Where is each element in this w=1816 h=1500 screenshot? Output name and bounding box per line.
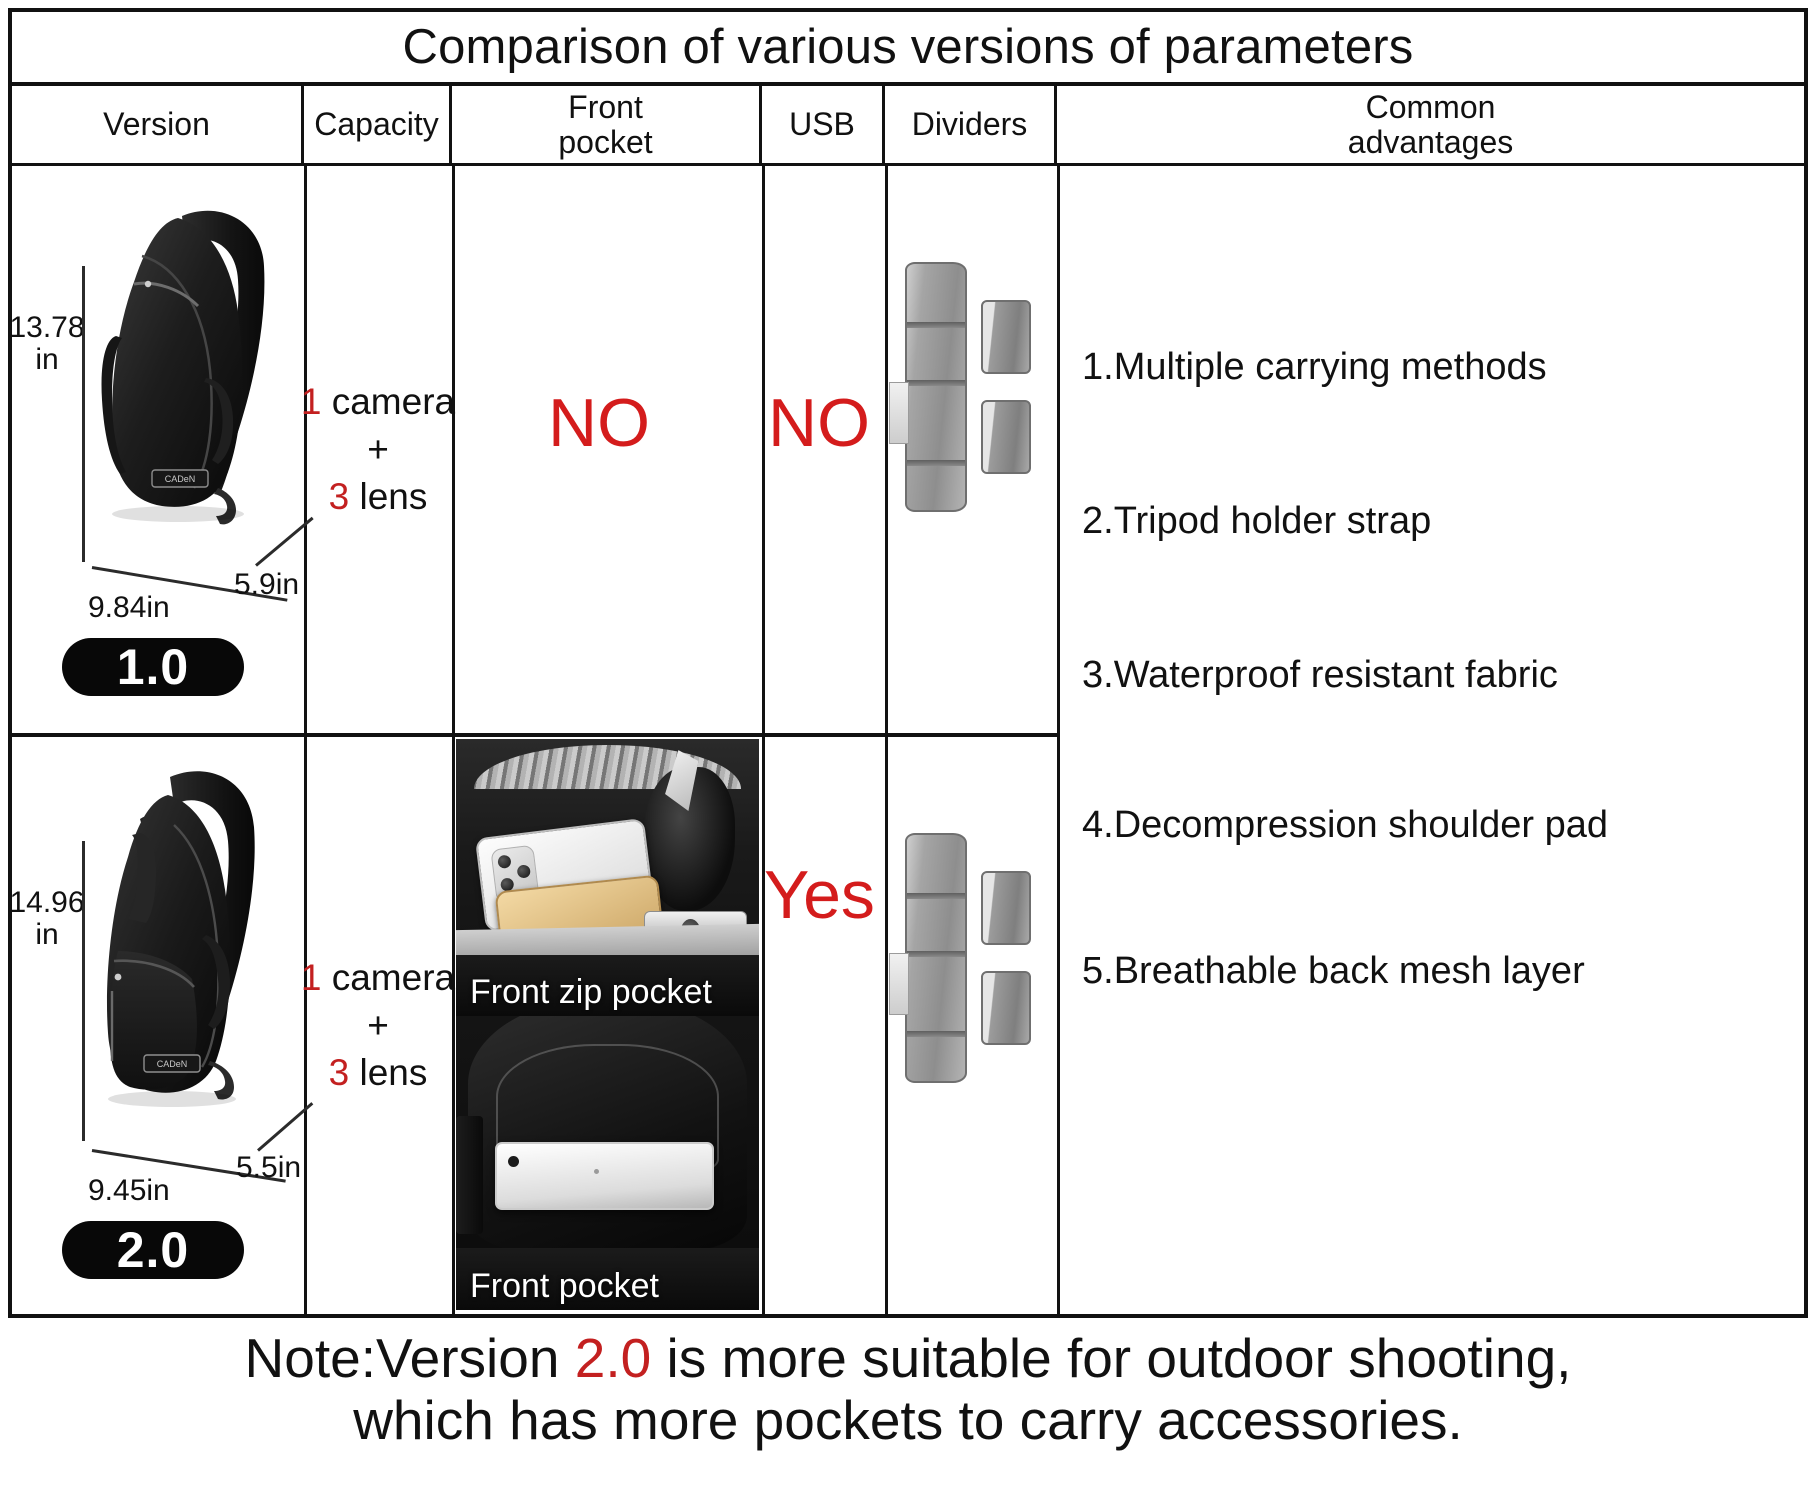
dimension-height-1: 13.78 in	[4, 312, 90, 375]
advantage-item-5: 5.Breathable back mesh layer	[1082, 952, 1585, 990]
cell-usb-2: Yes	[764, 856, 875, 934]
note-block: Note:Version 2.0 is more suitable for ou…	[8, 1322, 1808, 1492]
capacity-line-lens-2: 3 lens	[329, 1049, 428, 1096]
bag-body	[468, 1016, 747, 1251]
front-pocket-photo: Front pocket	[456, 1016, 759, 1310]
divider-pad-main-1	[905, 262, 967, 512]
header-usb: USB	[762, 86, 885, 163]
tablet-device	[495, 1142, 713, 1210]
header-dividers: Dividers	[885, 86, 1057, 163]
capacity-line-lens-1: 3 lens	[329, 473, 428, 520]
cell-version-2: 14.96 in	[12, 737, 304, 1314]
dimension-height-line-2	[82, 841, 85, 1141]
tablet-camera	[508, 1156, 519, 1167]
divider-small-upper-1	[981, 300, 1031, 374]
divider-seam	[907, 951, 965, 957]
sling-bag-1-0-icon: CADeN	[86, 188, 291, 558]
header-common-advantages: Common advantages	[1057, 86, 1804, 163]
dimension-height-line-1	[82, 266, 85, 562]
cell-front-pocket-1: NO	[548, 384, 650, 462]
table-body: 13.78 in	[12, 166, 1804, 1314]
capacity-line-camera-2: 1 camera	[301, 954, 455, 1001]
front-zip-pocket-caption: Front zip pocket	[456, 973, 759, 1012]
note-highlight-version: 2.0	[575, 1327, 651, 1389]
cell-version-1: 13.78 in	[12, 166, 304, 733]
sling-bag-2-0-icon: CADeN	[88, 755, 288, 1143]
note-line-1: Note:Version 2.0 is more suitable for ou…	[8, 1328, 1808, 1390]
divider-seam	[907, 460, 965, 466]
cell-capacity-2: 1 camera + 3 lens	[304, 737, 452, 1314]
product-photo-1: CADeN	[86, 188, 291, 558]
capacity-line-camera-1: 1 camera	[301, 378, 455, 425]
divider-small-upper-2	[981, 871, 1031, 945]
version-badge-1: 1.0	[62, 638, 244, 696]
dimension-width-1: 9.84in	[88, 591, 170, 625]
cell-usb-1: NO	[768, 384, 870, 462]
divider-seam	[907, 380, 965, 386]
page-title: Comparison of various versions of parame…	[402, 19, 1413, 75]
comparison-infographic: Comparison of various versions of parame…	[0, 0, 1816, 1500]
divider-seam	[907, 893, 965, 899]
front-zip-pocket-photo: Front zip pocket	[456, 739, 759, 1016]
table-header-row: Version Capacity Front pocket USB Divide…	[12, 86, 1804, 166]
capacity-plus-1: +	[367, 426, 389, 473]
cell-front-pocket-2: Front zip pocket Front pocket	[456, 739, 759, 1310]
note-suffix: is more suitable for outdoor shooting,	[651, 1327, 1571, 1389]
dimension-width-2: 9.45in	[88, 1174, 170, 1208]
divider-pad-main-2	[905, 833, 967, 1083]
grid-line-v2	[452, 166, 455, 1314]
advantage-item-3: 3.Waterproof resistant fabric	[1082, 656, 1558, 694]
shoulder-strap	[456, 1116, 483, 1234]
header-version: Version	[12, 86, 304, 163]
cell-dividers-1	[885, 166, 1057, 733]
divider-small-lower-2	[981, 971, 1031, 1045]
cell-capacity-1: 1 camera + 3 lens	[304, 166, 452, 733]
dimension-depth-1: 5.9in	[234, 568, 299, 602]
divider-tab-2	[889, 953, 909, 1015]
comparison-table: Comparison of various versions of parame…	[8, 8, 1808, 1318]
cell-dividers-2	[885, 737, 1057, 1314]
svg-text:CADeN: CADeN	[157, 1059, 188, 1069]
divider-tab-1	[889, 382, 909, 444]
note-line-2: which has more pockets to carry accessor…	[8, 1390, 1808, 1452]
advantage-item-2: 2.Tripod holder strap	[1082, 502, 1431, 540]
grid-line-v3	[762, 166, 765, 1314]
dimension-depth-2: 5.5in	[236, 1151, 301, 1185]
capacity-plus-2: +	[367, 1002, 389, 1049]
advantage-item-1: 1.Multiple carrying methods	[1082, 348, 1547, 386]
header-front-pocket: Front pocket	[452, 86, 762, 163]
cell-common-advantages: 1.Multiple carrying methods 2.Tripod hol…	[1060, 166, 1804, 1314]
divider-seam	[907, 1031, 965, 1037]
header-capacity: Capacity	[304, 86, 452, 163]
version-badge-2: 2.0	[62, 1221, 244, 1279]
svg-text:CADeN: CADeN	[165, 474, 196, 484]
dimension-height-2: 14.96 in	[4, 887, 90, 950]
front-pocket-caption: Front pocket	[456, 1267, 759, 1306]
advantage-item-4: 4.Decompression shoulder pad	[1082, 806, 1608, 844]
divider-small-lower-1	[981, 400, 1031, 474]
tablet-sensor	[594, 1169, 599, 1174]
divider-seam	[907, 322, 965, 328]
note-prefix: Note:Version	[245, 1327, 575, 1389]
table-title-row: Comparison of various versions of parame…	[12, 12, 1804, 86]
product-photo-2: CADeN	[88, 755, 288, 1143]
